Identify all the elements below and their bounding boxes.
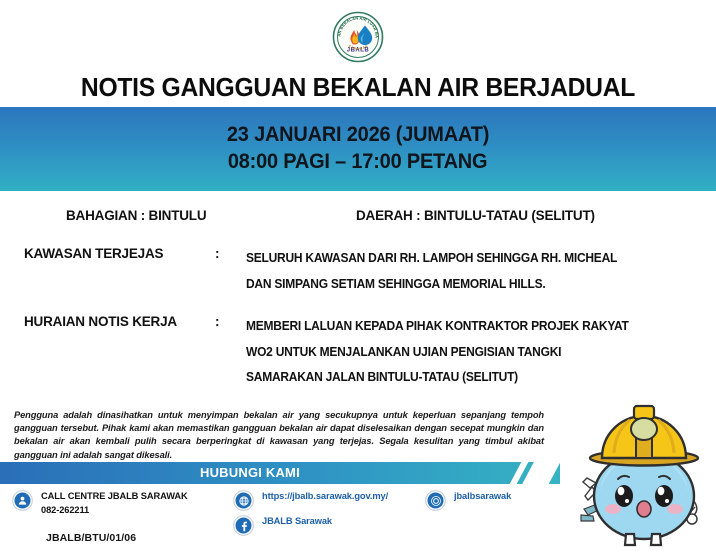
field-kawasan-terjejas: KAWASAN TERJEJAS : SELURUH KAWASAN DARI … bbox=[0, 246, 716, 312]
notice-details: BAHAGIAN : BINTULU DAERAH : BINTULU-TATA… bbox=[0, 200, 716, 391]
contact-line: 082-262211 bbox=[41, 504, 188, 518]
facebook-icon bbox=[233, 515, 254, 536]
globe-icon bbox=[233, 490, 254, 511]
field-value-line: SELURUH KAWASAN DARI RH. LAMPOH SEHINGGA… bbox=[246, 246, 659, 272]
page-title: NOTIS GANGGUAN BEKALAN AIR BERJADUAL bbox=[18, 72, 698, 103]
person-phone-icon bbox=[12, 490, 33, 511]
contact-banner-title: HUBUNGI KAMI bbox=[200, 465, 300, 480]
contact-line: CALL CENTRE JBALB SARAWAK bbox=[41, 490, 188, 504]
contact-facebook[interactable]: JBALB Sarawak bbox=[233, 515, 332, 536]
contact-call-centre-text: CALL CENTRE JBALB SARAWAK 082-262211 bbox=[41, 490, 188, 518]
field-label: KAWASAN TERJEJAS bbox=[24, 246, 163, 261]
field-value: SELURUH KAWASAN DARI RH. LAMPOH SEHINGGA… bbox=[246, 246, 716, 297]
field-colon: : bbox=[215, 246, 220, 261]
daerah-label: DAERAH : BINTULU-TATAU (SELITUT) bbox=[356, 208, 595, 223]
field-colon: : bbox=[215, 314, 220, 329]
contact-banner: HUBUNGI KAMI bbox=[0, 462, 560, 484]
contact-instagram-text: jbalbsarawak bbox=[454, 490, 511, 504]
jbalb-logo-icon: JABATAN BEKALAN AIR LUAR BANDAR JBALB S … bbox=[332, 11, 384, 63]
field-value-line: MEMBERI LALUAN KEPADA PIHAK KONTRAKTOR P… bbox=[246, 314, 659, 340]
contact-facebook-text: JBALB Sarawak bbox=[262, 515, 332, 529]
banner-date: 23 JANUARI 2026 (JUMAAT) bbox=[227, 122, 489, 149]
bahagian-label: BAHAGIAN : BINTULU bbox=[66, 208, 206, 223]
instagram-icon bbox=[425, 490, 446, 511]
contact-instagram[interactable]: jbalbsarawak bbox=[425, 490, 511, 511]
contact-website-text: https://jbalb.sarawak.gov.my/ bbox=[262, 490, 388, 504]
contact-website[interactable]: https://jbalb.sarawak.gov.my/ bbox=[233, 490, 388, 511]
field-huraian-notis-kerja: HURAIAN NOTIS KERJA : MEMBERI LALUAN KEP… bbox=[0, 314, 716, 391]
field-value-line: WO2 UNTUK MENJALANKAN UJIAN PENGISIAN TA… bbox=[246, 340, 659, 366]
field-value-line: DAN SIMPANG SETIAM SEHINGGA MEMORIAL HIL… bbox=[246, 272, 659, 298]
location-row: BAHAGIAN : BINTULU DAERAH : BINTULU-TATA… bbox=[0, 200, 716, 240]
advisory-note: Pengguna adalah dinasihatkan untuk menyi… bbox=[14, 409, 544, 462]
field-label: HURAIAN NOTIS KERJA bbox=[24, 314, 177, 329]
contact-call-centre[interactable]: CALL CENTRE JBALB SARAWAK 082-262211 bbox=[12, 490, 188, 518]
banner-time: 08:00 PAGI – 17:00 PETANG bbox=[228, 149, 488, 176]
logo-container: JABATAN BEKALAN AIR LUAR BANDAR JBALB S … bbox=[0, 8, 716, 66]
water-droplet-mascot-icon bbox=[578, 401, 714, 553]
field-value: MEMBERI LALUAN KEPADA PIHAK KONTRAKTOR P… bbox=[246, 314, 716, 391]
reference-number: JBALB/BTU/01/06 bbox=[46, 532, 136, 544]
date-time-banner: 23 JANUARI 2026 (JUMAAT) 08:00 PAGI – 17… bbox=[0, 107, 716, 191]
field-value-line: SAMARAKAN JALAN BINTULU-TATAU (SELITUT) bbox=[246, 365, 659, 391]
